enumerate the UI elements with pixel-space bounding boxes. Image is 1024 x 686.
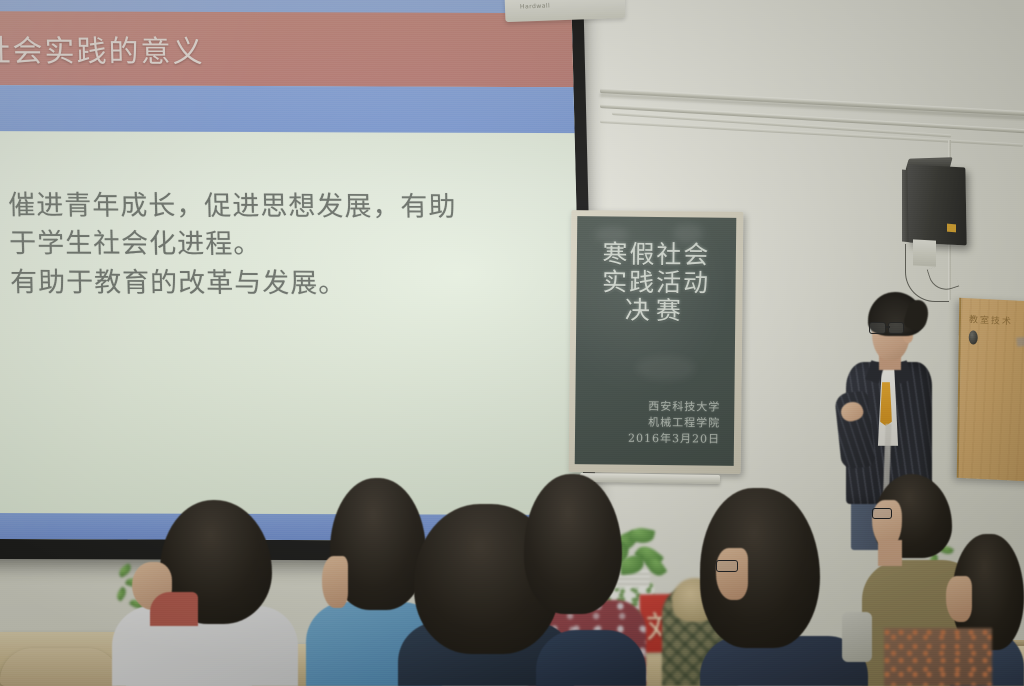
slide-body: 催进青年成长，促进思想发展，有助 于学生社会化进程。 有助于教育的改革与发展。 (8, 187, 549, 304)
presenter-glasses-right-lens (888, 322, 904, 334)
blackboard-headline: 寒假社会 实践活动 决赛 (576, 240, 736, 326)
chair-left (0, 648, 120, 686)
wooden-notice-board: 教室技术 (957, 298, 1024, 482)
student-navy-center-torso (536, 630, 646, 686)
projection-screen: 学生社会实践的意义 催进青年成长，促进思想发展，有助 于学生社会化进程。 有助于… (0, 0, 597, 561)
notice-board-text: 教室技术 (969, 312, 1013, 327)
student-right-navy-glasses-icon (716, 560, 738, 572)
blackboard-headline-line-1: 寒假社会 (577, 240, 736, 270)
chalk-smudge (636, 355, 696, 382)
roller-label: Hardwall (520, 2, 551, 10)
presenter-glasses-icon (869, 322, 886, 334)
slide-title: 学生社会实践的意义 (0, 26, 205, 71)
student-far-right-knit-sleeve (884, 628, 992, 686)
student-far-right-face-side (946, 576, 972, 622)
blackboard-surface: 寒假社会 实践活动 决赛 西安科技大学 机械工程学院 2016年3月20日 (575, 216, 737, 466)
blackboard: 寒假社会 实践活动 决赛 西安科技大学 机械工程学院 2016年3月20日 (569, 210, 744, 474)
wall-speaker (907, 164, 966, 245)
blackboard-headline-line-3: 决赛 (576, 296, 735, 326)
student-glasses-icon (872, 508, 892, 519)
blackboard-signature-line-2: 机械工程学院 (628, 415, 720, 432)
student-grey-shirt-undershirt (150, 592, 198, 626)
speaker-logo-icon (947, 224, 956, 233)
slide-second-blue-band (0, 85, 575, 133)
water-bottle (842, 612, 872, 662)
slide-body-line-1: 催进青年成长，促进思想发展，有助 (8, 187, 547, 227)
student-navy-center-head (524, 474, 622, 614)
classroom-photo-scene: 学生社会实践的意义 催进青年成长，促进思想发展，有助 于学生社会化进程。 有助于… (0, 0, 1024, 686)
blackboard-headline-line-2: 实践活动 (576, 268, 735, 298)
slide-body-line-2: 于学生社会化进程。 (9, 225, 548, 265)
slide: 学生社会实践的意义 催进青年成长，促进思想发展，有助 于学生社会化进程。 有助于… (0, 0, 585, 541)
hair (524, 474, 622, 614)
blackboard-signature-line-1: 西安科技大学 (628, 399, 720, 416)
notice-board-mark (1016, 336, 1024, 346)
blackboard-signature: 西安科技大学 机械工程学院 2016年3月20日 (628, 399, 720, 448)
student-right-navy-face-side (716, 548, 748, 600)
screen-surface: 学生社会实践的意义 催进青年成长，促进思想发展，有助 于学生社会化进程。 有助于… (0, 0, 585, 541)
student-blue-shirt-face-side (322, 556, 348, 608)
slide-title-band: 学生社会实践的意义 (0, 11, 574, 87)
student-glasses-khaki-neck (878, 540, 902, 566)
slide-body-line-3: 有助于教育的改革与发展。 (10, 264, 549, 304)
blackboard-signature-line-3: 2016年3月20日 (628, 431, 720, 448)
presenter-glasses-bridge (885, 326, 890, 328)
